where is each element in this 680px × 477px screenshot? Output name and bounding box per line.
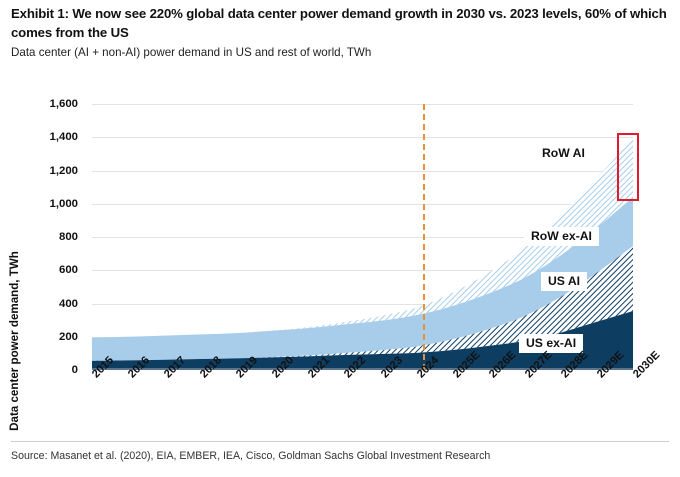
series-label-row-ex-ai: RoW ex-AI — [524, 227, 599, 246]
y-tick-400: 400 — [59, 298, 78, 310]
y-tick-800: 800 — [59, 231, 78, 243]
y-axis-tick-labels: 02004006008001,0001,2001,4001,600 — [0, 104, 86, 370]
page-title: Exhibit 1: We now see 220% global data c… — [11, 4, 669, 42]
x-axis-tick-labels: 2015201620172018201920202021202220232024… — [92, 372, 633, 432]
forecast-divider-line — [423, 104, 425, 370]
y-tick-1400: 1,400 — [49, 131, 78, 143]
chart-page: Exhibit 1: We now see 220% global data c… — [0, 0, 680, 477]
series-label-us-ai: US AI — [541, 272, 587, 291]
row-ai-highlight-box — [617, 133, 639, 201]
y-tick-1000: 1,000 — [49, 198, 78, 210]
y-tick-1600: 1,600 — [49, 98, 78, 110]
footer-divider — [11, 441, 669, 442]
source-note: Source: Masanet et al. (2020), EIA, EMBE… — [11, 450, 669, 464]
y-tick-600: 600 — [59, 264, 78, 276]
series-label-us-ex-ai: US ex-AI — [519, 334, 583, 353]
y-tick-0: 0 — [72, 364, 78, 376]
page-subtitle: Data center (AI + non-AI) power demand i… — [11, 45, 669, 60]
series-label-row-ai: RoW AI — [535, 144, 592, 163]
y-tick-200: 200 — [59, 331, 78, 343]
x-tick-2030E: 2030E — [631, 349, 662, 380]
y-tick-1200: 1,200 — [49, 165, 78, 177]
